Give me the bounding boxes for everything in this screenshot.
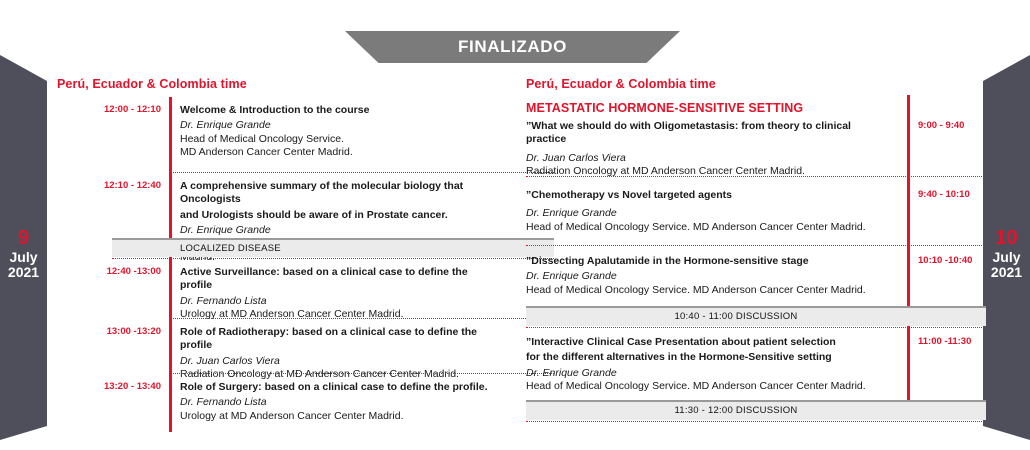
session-title: Role of Surgery: based on a clinical cas… [180,381,497,394]
section-band-label: LOCALIZED DISEASE [180,243,281,254]
session-time: 11:00 -11:30 [918,336,986,347]
date-tab-left-day: 9 [0,228,47,250]
session-title: Welcome & Introduction to the course [180,104,497,117]
session-affiliation: Head of Medical Oncology Service. MD And… [526,284,892,297]
agenda-page: FINALIZADO 9 July 2021 10 July 2021 Perú… [0,0,1030,450]
session-body: ”Interactive Clinical Case Presentation … [526,336,892,393]
date-tab-day-10: 10 July 2021 [983,55,1030,440]
date-tab-right-day: 10 [983,228,1030,250]
timeline-rule-right [907,95,910,400]
session-separator [169,373,554,374]
session-title: ”Interactive Clinical Case Presentation … [526,336,892,349]
discussion-band-label: 10:40 - 11:00 DISCUSSION [526,311,946,322]
session-speaker: Dr. Enrique Grande [526,207,892,220]
session-body: Welcome & Introduction to the course Dr.… [180,104,497,159]
section-band-localized-disease [112,238,554,257]
timezone-header-right: Perú, Ecuador & Colombia time [526,77,716,91]
session-body: ”What we should do with Oligometastasis:… [526,120,892,178]
session-time: 9:00 - 9:40 [918,120,986,131]
session-separator [169,172,554,173]
session-separator [526,176,986,177]
session-time: 9:40 - 10:10 [918,189,986,200]
session-title: Role of Radiotherapy: based on a clinica… [180,326,497,353]
session-speaker: Dr. Enrique Grande [526,270,892,283]
session-time: 12:10 - 12:40 [57,180,161,191]
session-title: A comprehensive summary of the molecular… [180,180,497,207]
session-speaker: Dr. Enrique Grande [180,119,497,132]
session-time: 12:00 - 12:10 [57,104,161,115]
session-time: 13:20 - 13:40 [57,381,161,392]
session-speaker: Dr. Fernando Lista [180,295,497,308]
session-title: for the different alternatives in the Ho… [526,351,892,364]
status-badge-finalizado: FINALIZADO [345,31,680,63]
session-separator [526,245,986,246]
date-tab-left-year: 2021 [0,265,47,280]
timezone-header-left: Perú, Ecuador & Colombia time [57,77,247,91]
session-title: ”What we should do with Oligometastasis:… [526,120,892,147]
session-affiliation: Urology at MD Anderson Cancer Center Mad… [180,308,497,321]
session-speaker: Dr. Enrique Grande [526,367,892,380]
date-tab-left-content: 9 July 2021 [0,228,47,280]
session-time: 12:40 -13:00 [57,266,161,277]
session-speaker: Dr. Juan Carlos Viera [180,355,497,368]
date-tab-day-9: 9 July 2021 [0,55,47,440]
session-body: ”Dissecting Apalutamide in the Hormone-s… [526,255,892,297]
date-tab-right-month: July [983,250,1030,265]
session-speaker: Dr. Juan Carlos Viera [526,152,892,165]
section-separator [112,258,554,259]
session-affiliation: Head of Medical Oncology Service. [180,133,497,146]
session-body: ”Chemotherapy vs Novel targeted agents D… [526,189,892,234]
date-tab-right-content: 10 July 2021 [983,228,1030,280]
date-tab-left-month: July [0,250,47,265]
discussion-band-label: 11:30 - 12:00 DISCUSSION [526,405,946,416]
session-affiliation: Head of Medical Oncology Service. MD And… [526,221,892,234]
section-separator [526,421,986,422]
session-time: 10:10 -10:40 [918,255,986,266]
session-title: ”Chemotherapy vs Novel targeted agents [526,189,892,202]
section-separator [526,327,986,328]
session-affiliation: Head of Medical Oncology Service. MD And… [526,380,892,393]
session-title: and Urologists should be aware of in Pro… [180,209,497,222]
session-body: Role of Surgery: based on a clinical cas… [180,381,497,423]
session-affiliation: Radiation Oncology at MD Anderson Cancer… [180,368,497,381]
session-title: Active Surveillance: based on a clinical… [180,266,497,293]
session-affiliation: Urology at MD Anderson Cancer Center Mad… [180,410,497,423]
session-title: ”Dissecting Apalutamide in the Hormone-s… [526,255,892,268]
date-tab-right-year: 2021 [983,265,1030,280]
section-title-metastatic: METASTATIC HORMONE-SENSITIVE SETTING [526,101,803,115]
status-badge-label: FINALIZADO [458,37,567,57]
timeline-rule-left [169,97,172,432]
session-speaker: Dr. Enrique Grande [180,224,497,237]
session-separator [169,318,554,319]
session-time: 13:00 -13:20 [57,326,161,337]
session-body: Active Surveillance: based on a clinical… [180,266,497,321]
session-affiliation: MD Anderson Cancer Center Madrid. [180,146,497,159]
session-speaker: Dr. Fernando Lista [180,396,497,409]
